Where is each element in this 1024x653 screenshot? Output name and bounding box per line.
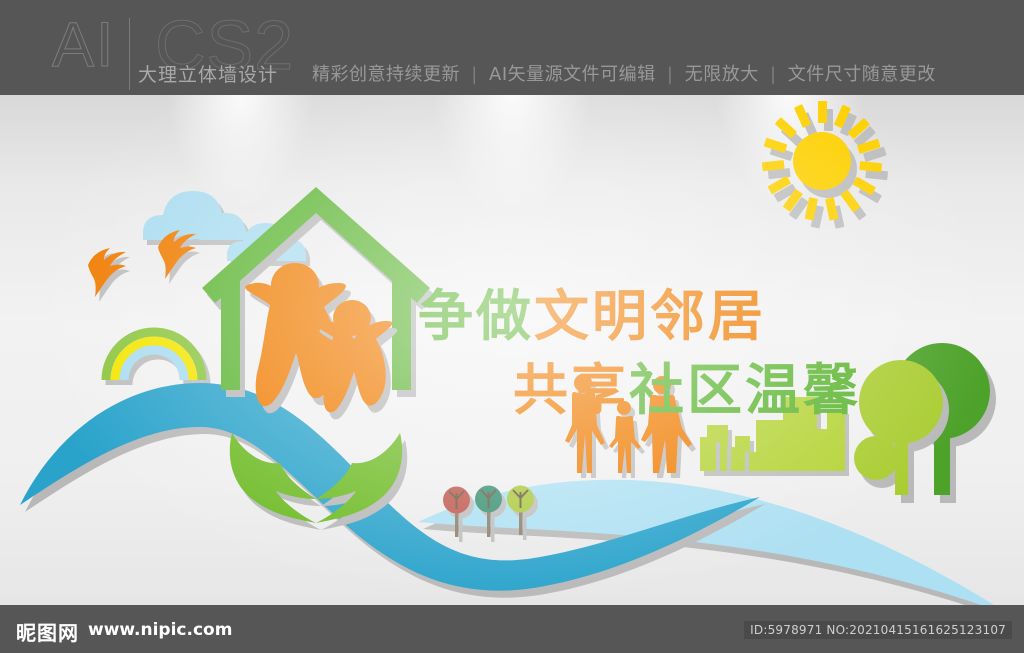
footer-brand-url[interactable]: www.nipic.com (88, 620, 232, 640)
feature-item-1: 精彩创意持续更新 (312, 64, 460, 85)
rainbow-icon (106, 332, 202, 380)
sun-ray-group (762, 101, 882, 221)
headline-line-1-part-1: 争做 (418, 284, 534, 348)
artwork-svg (0, 95, 1024, 605)
feature-separator-1: | (466, 64, 483, 85)
sun-icon (762, 101, 888, 229)
feature-item-4: 文件尺寸随意更改 (788, 64, 936, 85)
top-info-bar: AI CS2 大理立体墙设计 精彩创意持续更新 | AI矢量源文件可编辑 | 无… (0, 0, 1024, 95)
footer-brand-cn: 昵图网 (16, 617, 79, 646)
logo-ai-text: AI (52, 14, 116, 77)
big-tree-icon-lime (854, 360, 943, 495)
wall-background: 争做文明邻居 争做文明邻居 共享社区温馨 共享社区温馨 (0, 95, 1024, 605)
headline-line-2: 共享社区温馨 共享社区温馨 (513, 363, 861, 418)
cloud-icon-large (143, 191, 246, 240)
feature-separator-2: | (662, 64, 679, 85)
poster-canvas: AI CS2 大理立体墙设计 精彩创意持续更新 | AI矢量源文件可编辑 | 无… (0, 0, 1024, 653)
topbar-features: 精彩创意持续更新 | AI矢量源文件可编辑 | 无限放大 | 文件尺寸随意更改 (312, 60, 936, 86)
feature-item-3: 无限放大 (685, 64, 759, 85)
footer-bar: 昵图网 www.nipic.com ID:5978971 NO:20210415… (0, 605, 1024, 653)
headline-line-2-part-2: 社区温馨 (629, 358, 861, 422)
headline-line-1: 争做文明邻居 争做文明邻居 (418, 289, 766, 344)
feature-item-2: AI矢量源文件可编辑 (489, 64, 656, 85)
headline-line-1-part-2: 文明邻居 (534, 284, 766, 348)
bird-icon-left (88, 248, 126, 297)
headline-line-2-part-1: 共享 (513, 358, 629, 422)
logo-divider (129, 18, 130, 90)
feature-separator-3: | (765, 64, 782, 85)
topbar-subtitle: 大理立体墙设计 (138, 60, 278, 87)
footer-id-code: ID:5978971 NO:20210415161625123107 (744, 621, 1012, 639)
